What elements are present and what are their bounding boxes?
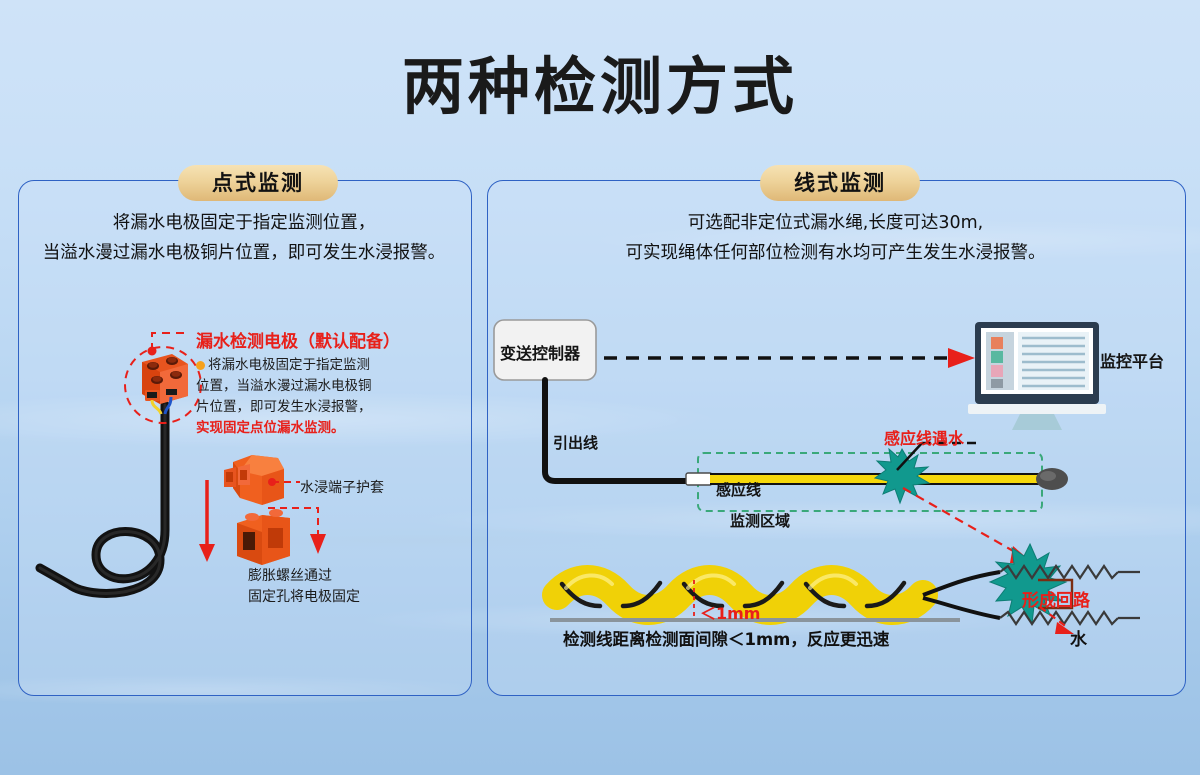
monitor-icon xyxy=(968,322,1106,430)
lead-wire-label: 引出线 xyxy=(553,432,598,453)
sensing-line-label: 感应线 xyxy=(716,479,761,500)
sensing-line-wet-label: 感应线遇水 xyxy=(884,425,964,449)
water-label: 水 xyxy=(1070,625,1087,650)
platform-label: 监控平台 xyxy=(1100,348,1164,372)
right-diagram-graphics xyxy=(0,0,1200,775)
lead-wire xyxy=(545,380,690,481)
twisted-rope-icon xyxy=(557,572,1000,618)
loop-label: 形成回路 xyxy=(1022,586,1090,611)
gap-caption: 检测线距离检测面间隙＜1mm，反应更迅速 xyxy=(563,626,889,650)
monitor-area-label: 监测区域 xyxy=(730,510,790,531)
controller-to-platform-arrow xyxy=(604,348,975,368)
gap-value-label: ＜1mm xyxy=(700,600,760,624)
controller-label: 变送控制器 xyxy=(500,340,580,364)
